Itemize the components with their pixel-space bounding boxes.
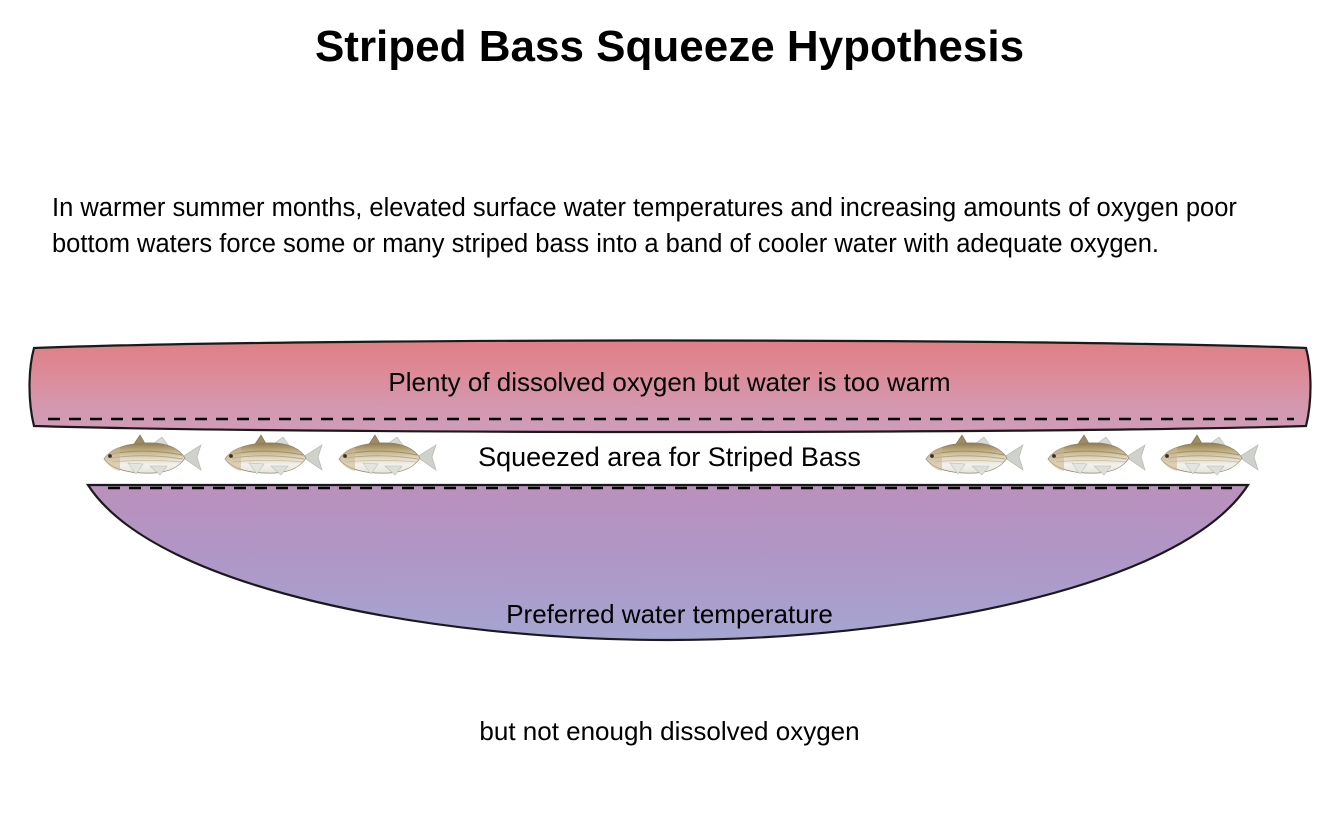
- body-paragraph: In warmer summer months, elevated surfac…: [52, 190, 1288, 262]
- warm-water-band: [30, 341, 1311, 433]
- squeeze-diagram: [0, 330, 1339, 660]
- cold-water-shape: [88, 485, 1248, 640]
- slide-canvas: Striped Bass Squeeze Hypothesis In warme…: [0, 0, 1339, 692]
- page-title: Striped Bass Squeeze Hypothesis: [0, 22, 1339, 73]
- striped-bass-fish-icon: [1042, 430, 1150, 486]
- cold-layer-label-line2: but not enough dissolved oxygen: [0, 712, 1339, 751]
- striped-bass-fish-icon: [98, 430, 206, 486]
- striped-bass-fish-icon: [920, 430, 1028, 486]
- striped-bass-fish-icon: [219, 430, 327, 486]
- striped-bass-fish-icon: [1155, 430, 1263, 486]
- fish-row: [0, 430, 1339, 486]
- striped-bass-fish-icon: [333, 430, 441, 486]
